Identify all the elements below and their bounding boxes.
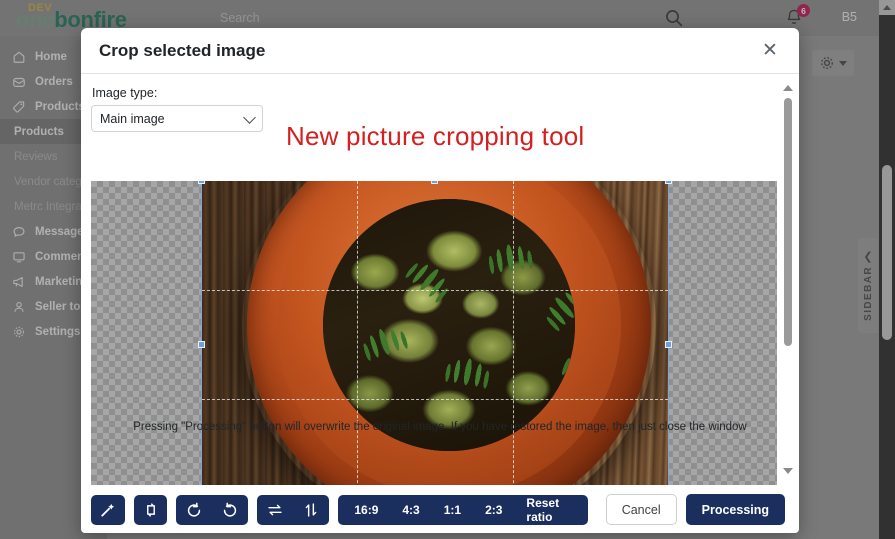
crop-handle-top-center[interactable] — [431, 181, 438, 184]
crop-grid-line — [357, 181, 358, 485]
annotation-text: New picture cropping tool — [286, 121, 584, 152]
crop-grid-line — [202, 399, 668, 400]
rotate-button-group — [176, 495, 248, 525]
ratio-button-2-3[interactable]: 2:3 — [473, 495, 514, 525]
restore-arrows-icon — [142, 501, 160, 519]
cancel-button[interactable]: Cancel — [606, 494, 677, 525]
crop-handle-top-left[interactable] — [198, 181, 205, 184]
modal-header: Crop selected image ✕ — [81, 28, 799, 74]
flip-horizontal-button[interactable] — [257, 495, 293, 525]
modal-title: Crop selected image — [99, 41, 757, 61]
modal-scrollbar-thumb[interactable] — [784, 98, 792, 346]
app-root: DEV onebonfire Search 6 B5 Home — [0, 0, 895, 539]
close-icon[interactable]: ✕ — [757, 38, 783, 64]
reset-ratio-button[interactable]: Reset ratio — [514, 495, 583, 525]
image-crop-stage[interactable] — [91, 181, 777, 485]
image-type-label: Image type: — [92, 86, 775, 100]
crop-selection-box[interactable] — [202, 181, 668, 485]
processing-button[interactable]: Processing — [686, 494, 785, 525]
ratio-button-1-1[interactable]: 1:1 — [432, 495, 473, 525]
flip-button-group — [257, 495, 329, 525]
image-type-value: Main image — [100, 112, 165, 126]
ratio-button-4-3[interactable]: 4:3 — [390, 495, 431, 525]
crop-image-modal: Crop selected image ✕ Image type: Main i… — [81, 28, 799, 533]
modal-scroll-down-arrow[interactable] — [781, 465, 795, 477]
hint-row: Pressing "Processing" button will overwr… — [81, 415, 799, 439]
aspect-ratio-group: 16:9 4:3 1:1 2:3 Reset ratio — [338, 495, 587, 525]
modal-footer: 16:9 4:3 1:1 2:3 Reset ratio Cancel Proc… — [81, 485, 799, 533]
magic-wand-icon — [99, 501, 117, 519]
restore-button[interactable] — [134, 495, 168, 525]
crop-handle-top-right[interactable] — [665, 181, 672, 184]
image-type-select[interactable]: Main image — [91, 105, 263, 132]
flip-vertical-button[interactable] — [293, 495, 329, 525]
rotate-right-button[interactable] — [212, 495, 248, 525]
chevron-down-icon — [243, 111, 256, 124]
processing-hint-text: Pressing "Processing" button will overwr… — [133, 421, 747, 433]
crop-grid-line — [202, 290, 668, 291]
modal-body: Image type: Main image New picture cropp… — [81, 74, 799, 485]
modal-scroll-up-arrow[interactable] — [781, 82, 795, 94]
rotate-left-button[interactable] — [176, 495, 212, 525]
magic-wand-button[interactable] — [91, 495, 125, 525]
crop-handle-middle-left[interactable] — [198, 341, 205, 348]
crop-handle-middle-right[interactable] — [665, 341, 672, 348]
ratio-button-16-9[interactable]: 16:9 — [342, 495, 390, 525]
crop-grid-line — [513, 181, 514, 485]
